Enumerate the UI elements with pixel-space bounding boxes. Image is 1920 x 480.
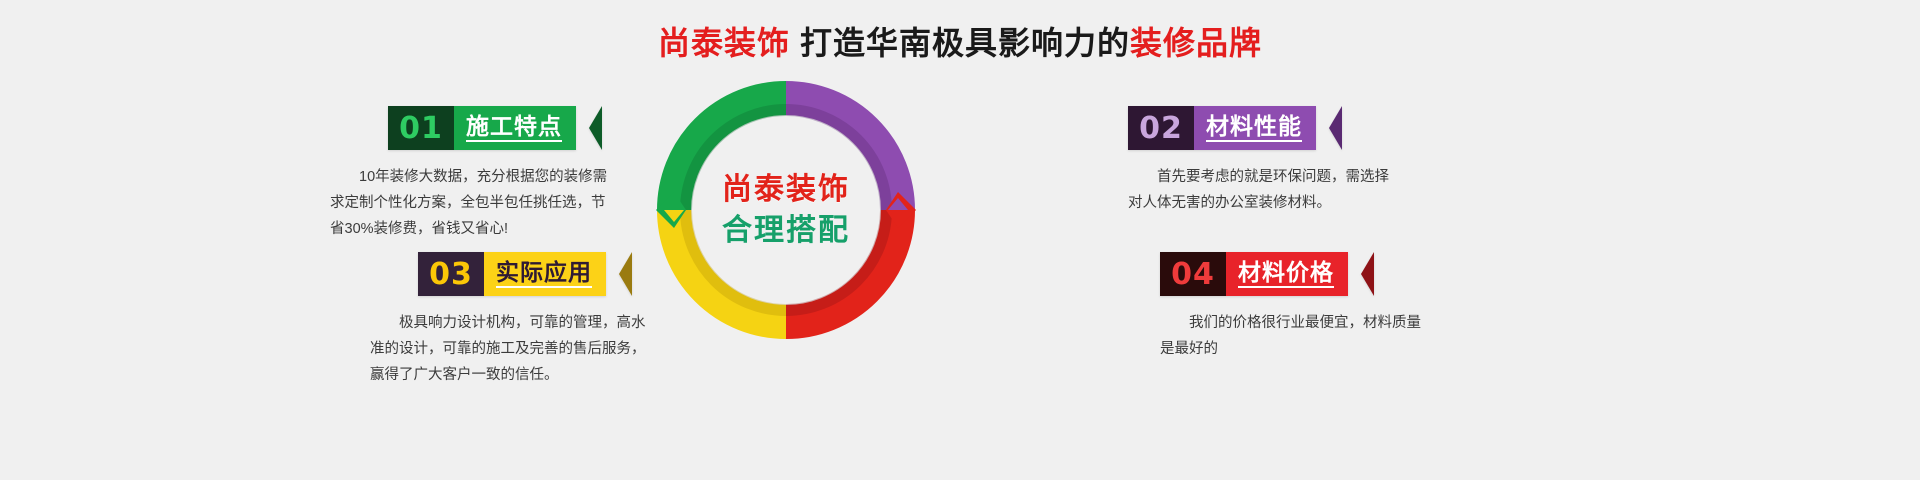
feature-block-02[interactable]: 02 材料性能 首先要考虑的就是环保问题，需选择对人体无害的办公室装修材料。 xyxy=(1128,106,1428,216)
feature-number-03: 03 xyxy=(418,252,484,296)
feature-desc-04: 我们的价格很行业最便宜，材料质量是最好的 xyxy=(1160,310,1435,362)
feature-block-01[interactable]: 01 施工特点 10年装修大数据，充分根据您的装修需求定制个性化方案，全包半包任… xyxy=(330,106,630,242)
title-brand: 尚泰装饰 xyxy=(658,25,790,61)
feature-banner-03[interactable]: 03 实际应用 xyxy=(418,252,606,296)
feature-label-02: 材料性能 xyxy=(1194,106,1316,150)
feature-label-04: 材料价格 xyxy=(1226,252,1348,296)
center-ring: 尚泰装饰 合理搭配 xyxy=(656,80,916,340)
feature-banner-01[interactable]: 01 施工特点 xyxy=(388,106,576,150)
feature-block-04[interactable]: 04 材料价格 我们的价格很行业最便宜，材料质量是最好的 xyxy=(1160,252,1460,362)
feature-number-02: 02 xyxy=(1128,106,1194,150)
feature-number-04: 04 xyxy=(1160,252,1226,296)
feature-desc-03: 极具响力设计机构，可靠的管理，高水准的设计，可靠的施工及完善的售后服务，赢得了广… xyxy=(370,310,655,388)
feature-banner-04[interactable]: 04 材料价格 xyxy=(1160,252,1348,296)
ribbon-fold-icon xyxy=(1348,252,1361,296)
page-title: 尚泰装饰 打造华南极具影响力的装修品牌 xyxy=(0,18,1920,64)
ribbon-fold-icon xyxy=(1316,106,1329,150)
feature-block-03[interactable]: 03 实际应用 极具响力设计机构，可靠的管理，高水准的设计，可靠的施工及完善的售… xyxy=(370,252,670,388)
feature-desc-01: 10年装修大数据，充分根据您的装修需求定制个性化方案，全包半包任挑任选，节省30… xyxy=(330,164,615,242)
feature-desc-02: 首先要考虑的就是环保问题，需选择对人体无害的办公室装修材料。 xyxy=(1128,164,1403,216)
feature-number-01: 01 xyxy=(388,106,454,150)
feature-banner-02[interactable]: 02 材料性能 xyxy=(1128,106,1316,150)
ribbon-fold-icon xyxy=(576,106,589,150)
title-accent: 装修品牌 xyxy=(1130,25,1262,61)
feature-label-01: 施工特点 xyxy=(454,106,576,150)
ribbon-fold-icon xyxy=(606,252,619,296)
title-middle: 打造华南极具影响力的 xyxy=(790,25,1130,61)
banner-stage: 尚泰装饰 打造华南极具影响力的装修品牌 xyxy=(0,0,1920,480)
feature-label-03: 实际应用 xyxy=(484,252,606,296)
